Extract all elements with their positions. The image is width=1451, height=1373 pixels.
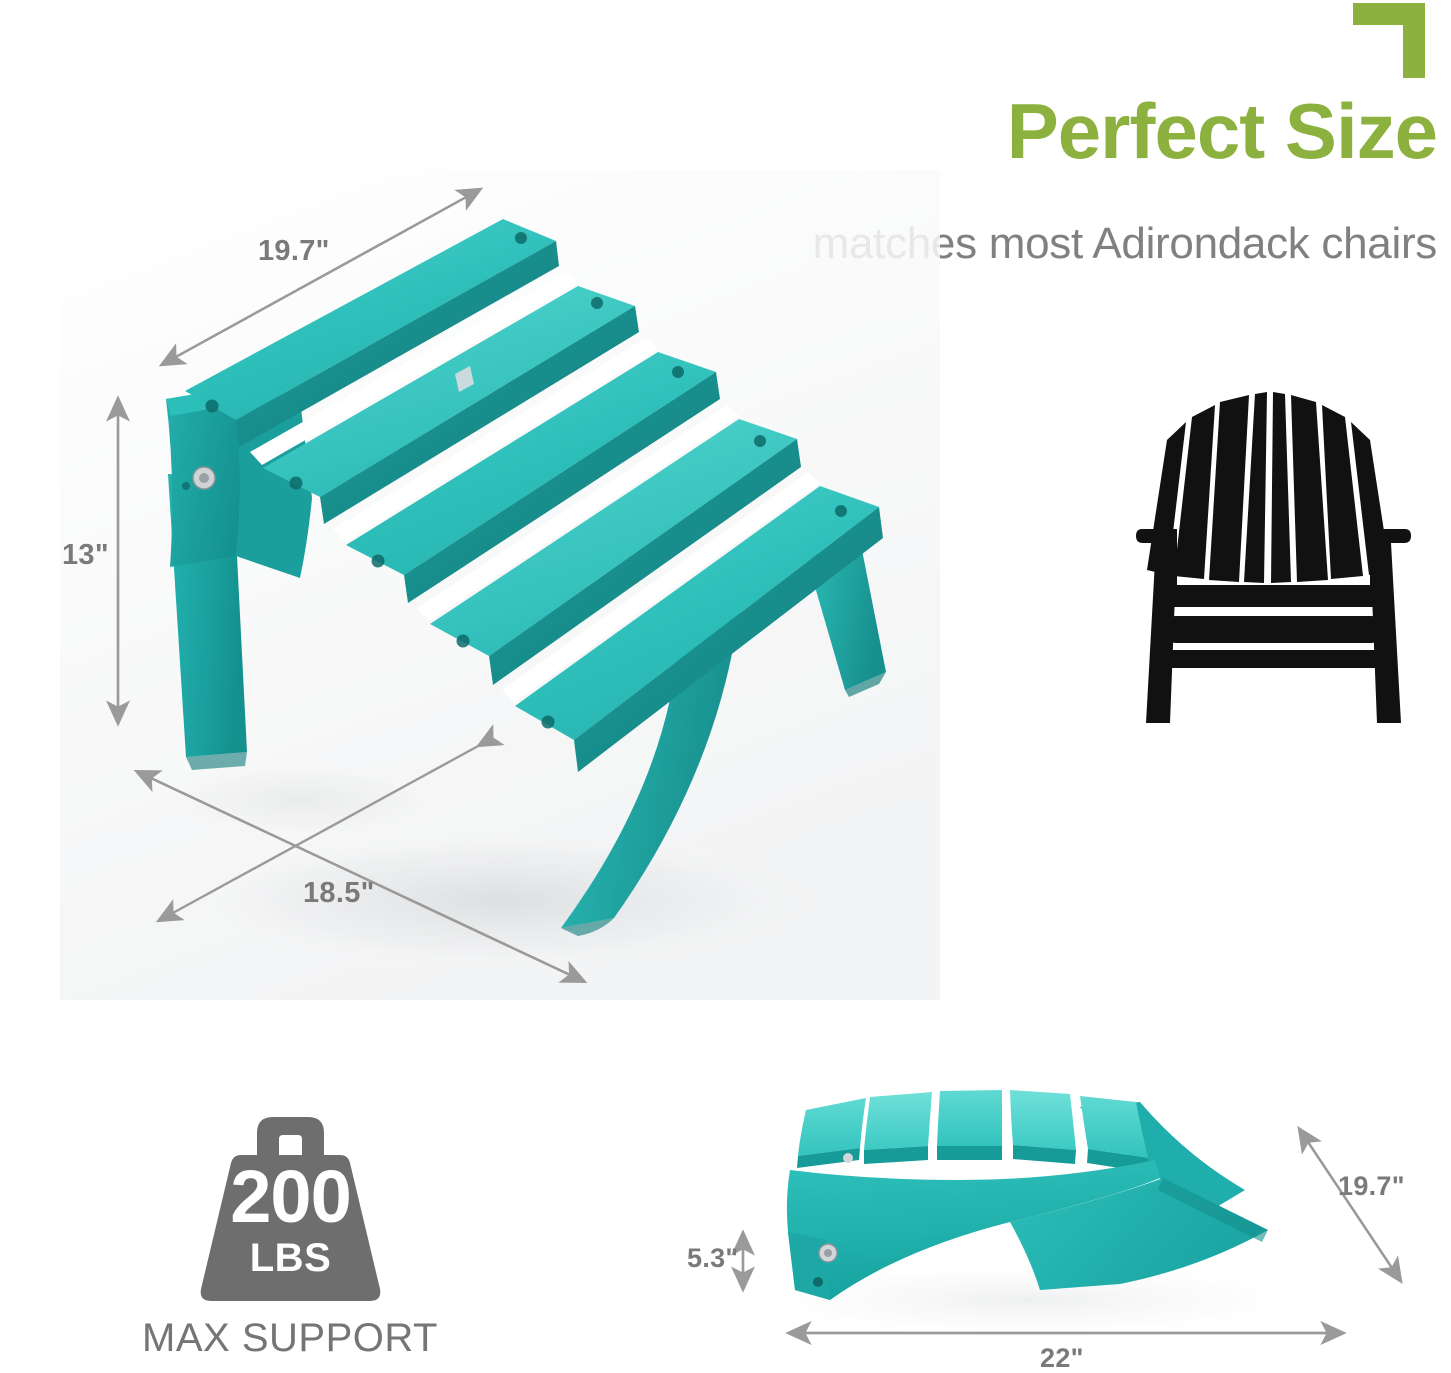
dimension-label-depth-bottom: 18.5" (303, 879, 375, 908)
page-subtitle: matches most Adirondack chairs (0, 222, 1437, 266)
max-support-caption: MAX SUPPORT (0, 1318, 580, 1358)
dimension-label-folded-depth: 19.7" (1338, 1173, 1405, 1200)
adirondack-chair-silhouette-icon (1132, 378, 1415, 730)
dimension-label-folded-thickness: 5.3" (687, 1245, 739, 1272)
corner-bracket-icon (1353, 3, 1425, 78)
dimension-label-height-side: 13" (62, 541, 109, 570)
weight-number: 200 (178, 1160, 403, 1234)
weight-unit: LBS (178, 1238, 403, 1278)
dimension-label-folded-width: 22" (1040, 1345, 1084, 1372)
page-title: Perfect Size (0, 92, 1437, 170)
dimension-label-width-top: 19.7" (258, 237, 330, 266)
infographic-canvas: Perfect Size matches most Adirondack cha… (0, 0, 1451, 1369)
